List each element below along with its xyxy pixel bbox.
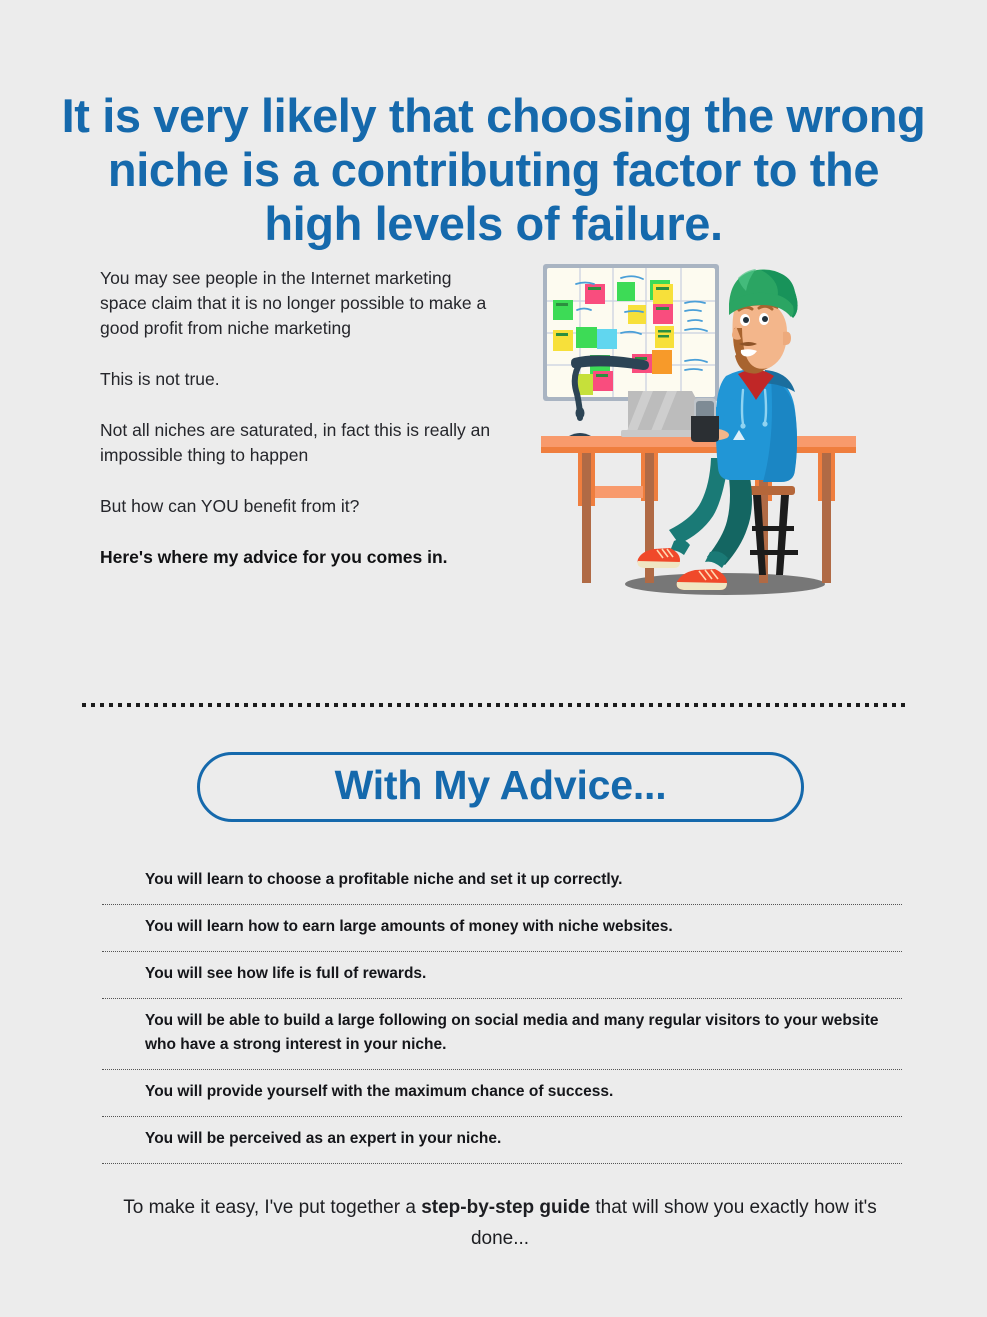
intro-closing-bold: Here's where my advice for you comes in. (100, 545, 500, 570)
with-my-advice-label: With My Advice... (335, 765, 667, 810)
page-headline: It is very likely that choosing the wron… (60, 89, 927, 251)
intro-paragraph-1: You may see people in the Internet marke… (100, 266, 500, 341)
intro-text-column: You may see people in the Internet marke… (100, 266, 500, 570)
benefit-label: You will provide yourself with the maxim… (102, 1070, 902, 1104)
list-item: You will be perceived as an expert in yo… (102, 1117, 902, 1164)
page-root: It is very likely that choosing the wron… (0, 0, 987, 1317)
closing-paragraph: To make it easy, I've put together a ste… (100, 1192, 900, 1254)
benefit-label: You will see how life is full of rewards… (102, 952, 902, 986)
workspace-illustration (533, 258, 873, 603)
benefit-label: You will learn how to earn large amounts… (102, 905, 902, 939)
intro-paragraph-3: Not all niches are saturated, in fact th… (100, 418, 500, 468)
closing-before: To make it easy, I've put together a (123, 1197, 421, 1218)
list-item: You will learn to choose a profitable ni… (102, 858, 902, 905)
intro-paragraph-2: This is not true. (100, 367, 500, 392)
benefit-label: You will learn to choose a profitable ni… (102, 858, 902, 892)
section-divider (82, 703, 905, 707)
list-item: You will provide yourself with the maxim… (102, 1070, 902, 1117)
list-item: You will see how life is full of rewards… (102, 952, 902, 999)
intro-paragraph-4: But how can YOU benefit from it? (100, 494, 500, 519)
benefits-list: You will learn to choose a profitable ni… (102, 858, 902, 1164)
benefit-label: You will be perceived as an expert in yo… (102, 1117, 902, 1151)
with-my-advice-button[interactable]: With My Advice... (197, 752, 804, 822)
closing-bold: step-by-step guide (421, 1197, 590, 1218)
intro-section: You may see people in the Internet marke… (0, 258, 987, 603)
list-item: You will be able to build a large follow… (102, 999, 902, 1070)
list-item: You will learn how to earn large amounts… (102, 905, 902, 952)
benefit-label: You will be able to build a large follow… (102, 999, 902, 1057)
